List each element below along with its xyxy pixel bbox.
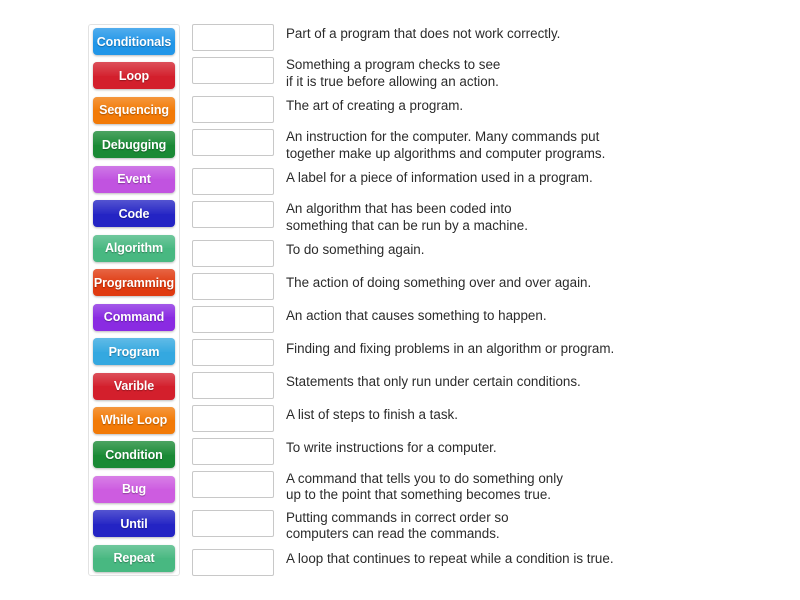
answer-tile-label: Loop xyxy=(119,69,149,83)
match-row: Something a program checks to see if it … xyxy=(192,57,792,90)
match-row: An action that causes something to happe… xyxy=(192,306,792,333)
definition-text: An instruction for the computer. Many co… xyxy=(286,129,792,162)
definition-text: A command that tells you to do something… xyxy=(286,471,792,504)
match-row: Part of a program that does not work cor… xyxy=(192,24,792,51)
answer-tile-label: Conditionals xyxy=(97,35,172,49)
definition-text: The art of creating a program. xyxy=(286,96,792,115)
answer-tile-label: Sequencing xyxy=(99,103,169,117)
answer-dropzone[interactable] xyxy=(192,306,274,333)
answer-tile[interactable]: Programming xyxy=(93,269,175,296)
answer-tile-label: Command xyxy=(104,310,164,324)
definition-text: Putting commands in correct order so com… xyxy=(286,510,792,543)
answer-tile[interactable]: Sequencing xyxy=(93,97,175,124)
definition-text: Finding and fixing problems in an algori… xyxy=(286,339,792,358)
definition-text: Part of a program that does not work cor… xyxy=(286,24,792,43)
definition-text: An action that causes something to happe… xyxy=(286,306,792,325)
answer-tile-label: Program xyxy=(109,345,160,359)
match-row: An algorithm that has been coded into so… xyxy=(192,201,792,234)
definition-text: To write instructions for a computer. xyxy=(286,438,792,457)
answer-tile-label: Algorithm xyxy=(105,241,163,255)
answer-dropzone[interactable] xyxy=(192,129,274,156)
answer-tile-label: Debugging xyxy=(102,138,166,152)
answer-tile[interactable]: Condition xyxy=(93,441,175,468)
definition-text: A list of steps to finish a task. xyxy=(286,405,792,424)
tile-column: ConditionalsLoopSequencingDebuggingEvent… xyxy=(88,24,180,576)
answer-tile[interactable]: Debugging xyxy=(93,131,175,158)
match-row: The art of creating a program. xyxy=(192,96,792,123)
match-row: A list of steps to finish a task. xyxy=(192,405,792,432)
definition-text: A loop that continues to repeat while a … xyxy=(286,549,792,568)
answer-tile[interactable]: While Loop xyxy=(93,407,175,434)
definition-text: A label for a piece of information used … xyxy=(286,168,792,187)
match-row: The action of doing something over and o… xyxy=(192,273,792,300)
answer-dropzone[interactable] xyxy=(192,273,274,300)
answer-tile[interactable]: Command xyxy=(93,304,175,331)
answer-dropzone[interactable] xyxy=(192,24,274,51)
match-row: A command that tells you to do something… xyxy=(192,471,792,504)
match-row: A loop that continues to repeat while a … xyxy=(192,549,792,576)
answer-tile[interactable]: Repeat xyxy=(93,545,175,572)
answer-dropzone[interactable] xyxy=(192,510,274,537)
answer-tile-label: Code xyxy=(119,207,150,221)
answer-tile[interactable]: Code xyxy=(93,200,175,227)
answer-tile[interactable]: Event xyxy=(93,166,175,193)
answer-tile-label: Repeat xyxy=(113,551,154,565)
match-list: Part of a program that does not work cor… xyxy=(192,24,792,576)
answer-dropzone[interactable] xyxy=(192,96,274,123)
answer-tile[interactable]: Algorithm xyxy=(93,235,175,262)
match-row: Statements that only run under certain c… xyxy=(192,372,792,399)
answer-dropzone[interactable] xyxy=(192,549,274,576)
answer-tile[interactable]: Conditionals xyxy=(93,28,175,55)
definition-text: An algorithm that has been coded into so… xyxy=(286,201,792,234)
answer-tile[interactable]: Program xyxy=(93,338,175,365)
match-up-activity: ConditionalsLoopSequencingDebuggingEvent… xyxy=(0,0,800,600)
answer-tile-label: Varible xyxy=(114,379,154,393)
answer-dropzone[interactable] xyxy=(192,471,274,498)
answer-dropzone[interactable] xyxy=(192,438,274,465)
match-row: Finding and fixing problems in an algori… xyxy=(192,339,792,366)
answer-tile[interactable]: Bug xyxy=(93,476,175,503)
answer-dropzone[interactable] xyxy=(192,372,274,399)
definition-text: To do something again. xyxy=(286,240,792,259)
match-row: To write instructions for a computer. xyxy=(192,438,792,465)
answer-tile-label: Event xyxy=(117,172,151,186)
match-row: To do something again. xyxy=(192,240,792,267)
answer-tile-label: Condition xyxy=(105,448,162,462)
match-row: A label for a piece of information used … xyxy=(192,168,792,195)
answer-tile-label: Until xyxy=(120,517,147,531)
answer-tile-label: Programming xyxy=(94,276,174,290)
match-row: Putting commands in correct order so com… xyxy=(192,510,792,543)
answer-dropzone[interactable] xyxy=(192,240,274,267)
answer-dropzone[interactable] xyxy=(192,339,274,366)
answer-tile[interactable]: Loop xyxy=(93,62,175,89)
definition-text: Statements that only run under certain c… xyxy=(286,372,792,391)
answer-tile-label: Bug xyxy=(122,482,146,496)
answer-dropzone[interactable] xyxy=(192,57,274,84)
answer-tile[interactable]: Varible xyxy=(93,373,175,400)
match-row: An instruction for the computer. Many co… xyxy=(192,129,792,162)
answer-dropzone[interactable] xyxy=(192,405,274,432)
answer-tile[interactable]: Until xyxy=(93,510,175,537)
answer-dropzone[interactable] xyxy=(192,168,274,195)
answer-tile-label: While Loop xyxy=(101,413,167,427)
answer-dropzone[interactable] xyxy=(192,201,274,228)
definition-text: The action of doing something over and o… xyxy=(286,273,792,292)
definition-text: Something a program checks to see if it … xyxy=(286,57,792,90)
